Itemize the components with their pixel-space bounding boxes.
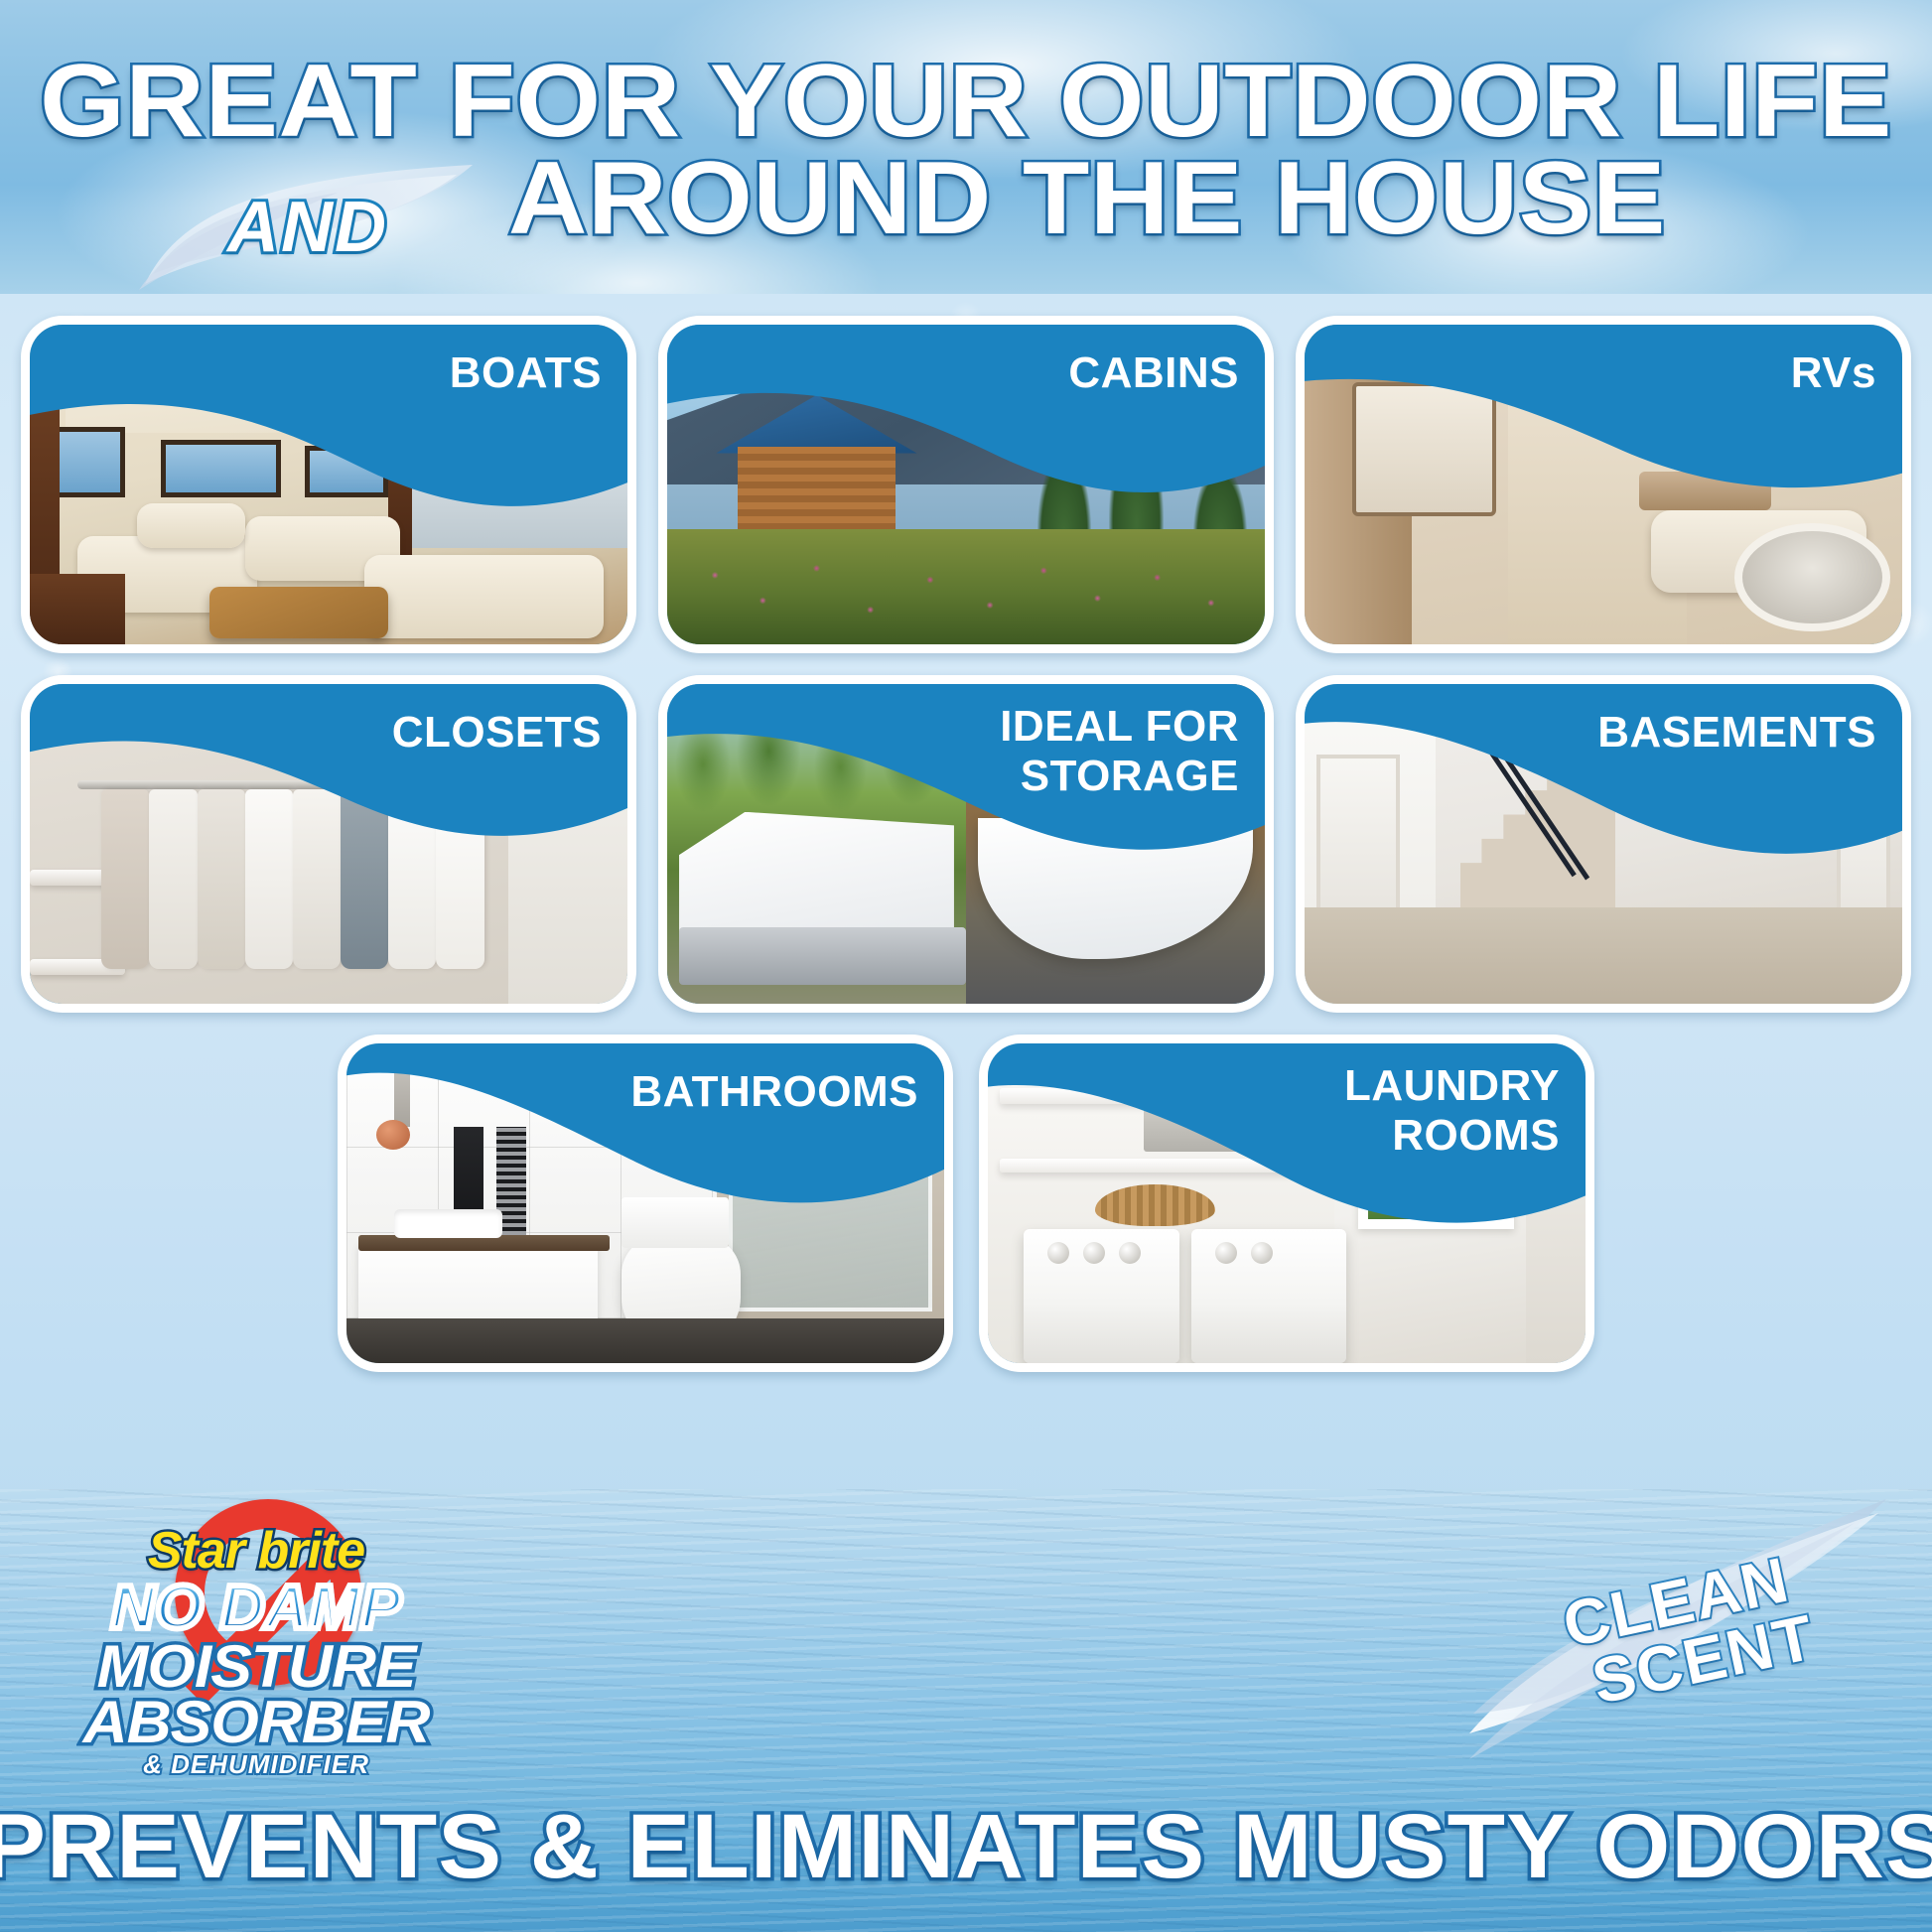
and-swoosh-badge: AND <box>139 157 477 291</box>
card-label-laundry: LAUNDRY ROOMS <box>1344 1061 1560 1161</box>
card-cabins[interactable]: CABINS <box>658 316 1274 653</box>
card-label-closets: CLOSETS <box>392 708 602 758</box>
and-label: AND <box>139 187 477 268</box>
footer-tagline: PREVENTS & ELIMINATES MUSTY ODORS <box>0 1795 1932 1899</box>
card-closets[interactable]: CLOSETS <box>21 675 636 1013</box>
card-laundry[interactable]: LAUNDRY ROOMS <box>979 1035 1594 1372</box>
card-label-storage-line2: STORAGE <box>1021 752 1239 800</box>
card-storage[interactable]: IDEAL FOR STORAGE <box>658 675 1274 1013</box>
card-label-bathrooms: BATHROOMS <box>630 1067 918 1117</box>
card-label-boats: BOATS <box>450 348 602 398</box>
logo-subtitle: & DEHUMIDIFIER <box>58 1749 455 1780</box>
card-label-storage-line1: IDEAL FOR <box>1000 702 1239 751</box>
brand-name: Star brite <box>58 1521 455 1581</box>
card-boats[interactable]: BOATS <box>21 316 636 653</box>
card-label-storage: IDEAL FOR STORAGE <box>1000 702 1239 801</box>
card-row-2: CLOSETS IDEAL FOR STORAGE <box>0 675 1932 1013</box>
card-bathrooms[interactable]: BATHROOMS <box>338 1035 953 1372</box>
card-row-3: BATHROOMS <box>0 1035 1932 1372</box>
headline-line-1: GREAT FOR YOUR OUTDOOR LIFE <box>0 48 1932 155</box>
product-logo: Star brite NO DAMP MOISTURE ABSORBER & D… <box>58 1499 455 1787</box>
card-row-1: BOATS CABINS <box>0 316 1932 653</box>
header-banner: GREAT FOR YOUR OUTDOOR LIFE AROUND THE H… <box>0 0 1932 298</box>
card-label-laundry-line2: ROOMS <box>1392 1111 1560 1160</box>
card-label-cabins: CABINS <box>1068 348 1239 398</box>
card-basements[interactable]: BASEMENTS <box>1296 675 1911 1013</box>
card-label-rvs: RVs <box>1791 348 1876 398</box>
card-rvs[interactable]: RVs <box>1296 316 1911 653</box>
clean-scent-badge: CLEAN SCENT <box>1469 1489 1896 1787</box>
usage-card-grid: BOATS CABINS <box>0 316 1932 1394</box>
card-label-basements: BASEMENTS <box>1597 708 1876 758</box>
card-label-laundry-line1: LAUNDRY <box>1344 1061 1560 1110</box>
logo-line-absorber: ABSORBER <box>50 1688 463 1756</box>
